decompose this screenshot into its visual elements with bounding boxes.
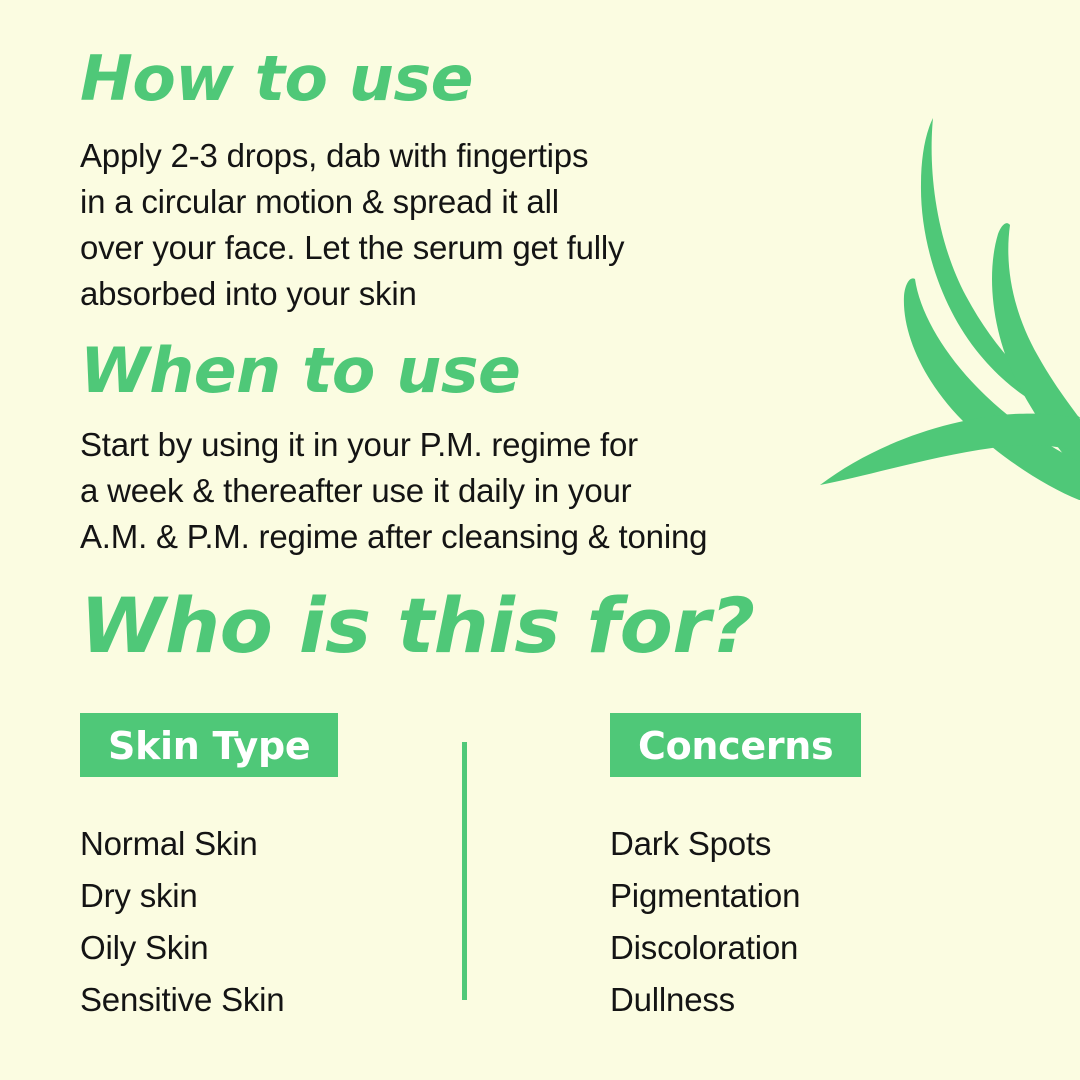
list-item: Dry skin [80,870,284,922]
list-item: Sensitive Skin [80,974,284,1026]
column-skin-type: Skin Type Normal Skin Dry skin Oily Skin… [80,713,338,777]
body-line: absorbed into your skin [80,271,624,317]
body-line: in a circular motion & spread it all [80,179,624,225]
body-line: Apply 2-3 drops, dab with fingertips [80,133,624,179]
badge-skin-type: Skin Type [80,713,338,777]
infographic-poster: How to use Apply 2-3 drops, dab with fin… [0,0,1080,1080]
heading-who-is-this-for: Who is this for? [80,588,755,664]
column-concerns: Concerns Dark Spots Pigmentation Discolo… [610,713,861,777]
list-item: Normal Skin [80,818,284,870]
list-concerns: Dark Spots Pigmentation Discoloration Du… [610,818,800,1026]
list-item: Pigmentation [610,870,800,922]
column-divider [462,742,467,1000]
list-item: Oily Skin [80,922,284,974]
list-item: Discoloration [610,922,800,974]
body-how-to-use: Apply 2-3 drops, dab with fingertips in … [80,133,624,317]
list-item: Dullness [610,974,800,1026]
heading-when-to-use: When to use [80,340,520,402]
body-line: over your face. Let the serum get fully [80,225,624,271]
body-line: a week & thereafter use it daily in your [80,468,707,514]
list-item: Dark Spots [610,818,800,870]
leaf-cluster-icon [800,100,1080,500]
badge-concerns: Concerns [610,713,861,777]
body-line: A.M. & P.M. regime after cleansing & ton… [80,514,707,560]
body-when-to-use: Start by using it in your P.M. regime fo… [80,422,707,560]
body-line: Start by using it in your P.M. regime fo… [80,422,707,468]
list-skin-type: Normal Skin Dry skin Oily Skin Sensitive… [80,818,284,1026]
heading-how-to-use: How to use [80,48,473,110]
audience-section: Skin Type Normal Skin Dry skin Oily Skin… [80,713,1000,1013]
